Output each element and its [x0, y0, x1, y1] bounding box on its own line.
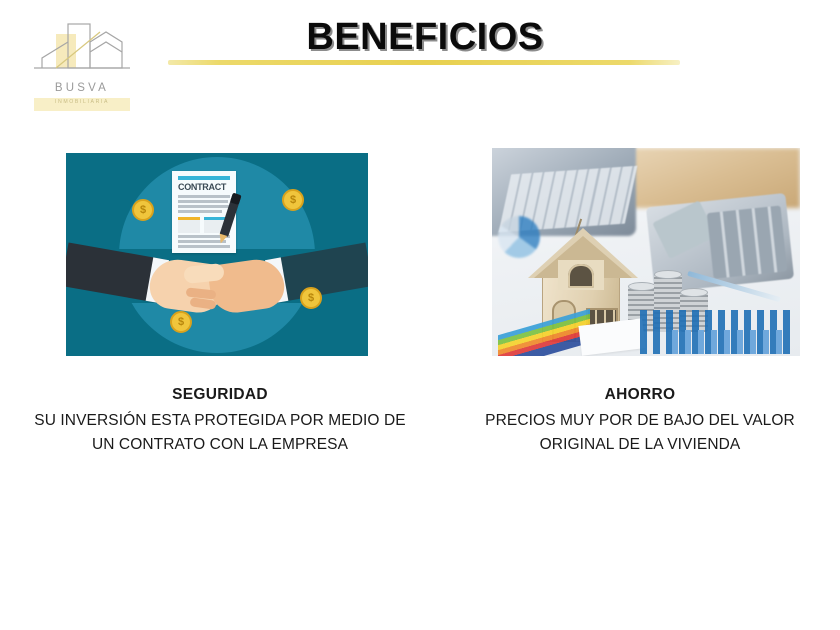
- benefit-body: SU INVERSIÓN ESTA PROTEGIDA POR MEDIO DE…: [30, 409, 410, 456]
- company-logo: BUSVA INMOBILIARIA: [28, 22, 136, 114]
- coin-icon: $: [170, 311, 192, 333]
- house-model-photo: [492, 148, 800, 356]
- coin-icon: $: [300, 287, 322, 309]
- slide-header: BUSVA INMOBILIARIA BENEFICIOS: [0, 0, 840, 130]
- calculator-screen: [652, 200, 716, 259]
- logo-tagline: INMOBILIARIA: [34, 99, 130, 105]
- colored-line-chart: [498, 309, 590, 356]
- bar-chart-secondary: [672, 330, 782, 354]
- benefit-body: PRECIOS MUY POR DE BAJO DEL VALOR ORIGIN…: [462, 409, 818, 456]
- photo-scene: [492, 148, 800, 356]
- house-attic-window: [568, 264, 594, 288]
- benefit-card-seguridad: CONTRACT: [55, 148, 385, 356]
- coin-icon: $: [282, 189, 304, 211]
- document-header-bar: [178, 176, 230, 180]
- paper-note: [578, 318, 645, 356]
- benefit-caption-ahorro: AHORRO PRECIOS MUY POR DE BAJO DEL VALOR…: [462, 386, 818, 456]
- chart-documents: [492, 304, 800, 356]
- page-title: BENEFICIOS: [170, 16, 680, 59]
- document-title: CONTRACT: [178, 182, 226, 192]
- illustration-background: CONTRACT: [66, 153, 368, 356]
- logo-tagline-highlight: INMOBILIARIA: [34, 98, 130, 111]
- benefit-heading: AHORRO: [462, 386, 818, 404]
- building-outline-icon: [28, 22, 136, 84]
- benefit-caption-seguridad: SEGURIDAD SU INVERSIÓN ESTA PROTEGIDA PO…: [30, 386, 410, 456]
- benefit-heading: SEGURIDAD: [30, 386, 410, 404]
- calculator-keypad: [707, 205, 787, 278]
- title-underline-rule: [168, 60, 680, 65]
- benefit-card-ahorro: [470, 148, 810, 356]
- logo-wordmark: BUSVA: [28, 82, 136, 94]
- handshake-contract-illustration: CONTRACT: [66, 153, 368, 356]
- coin-icon: $: [132, 199, 154, 221]
